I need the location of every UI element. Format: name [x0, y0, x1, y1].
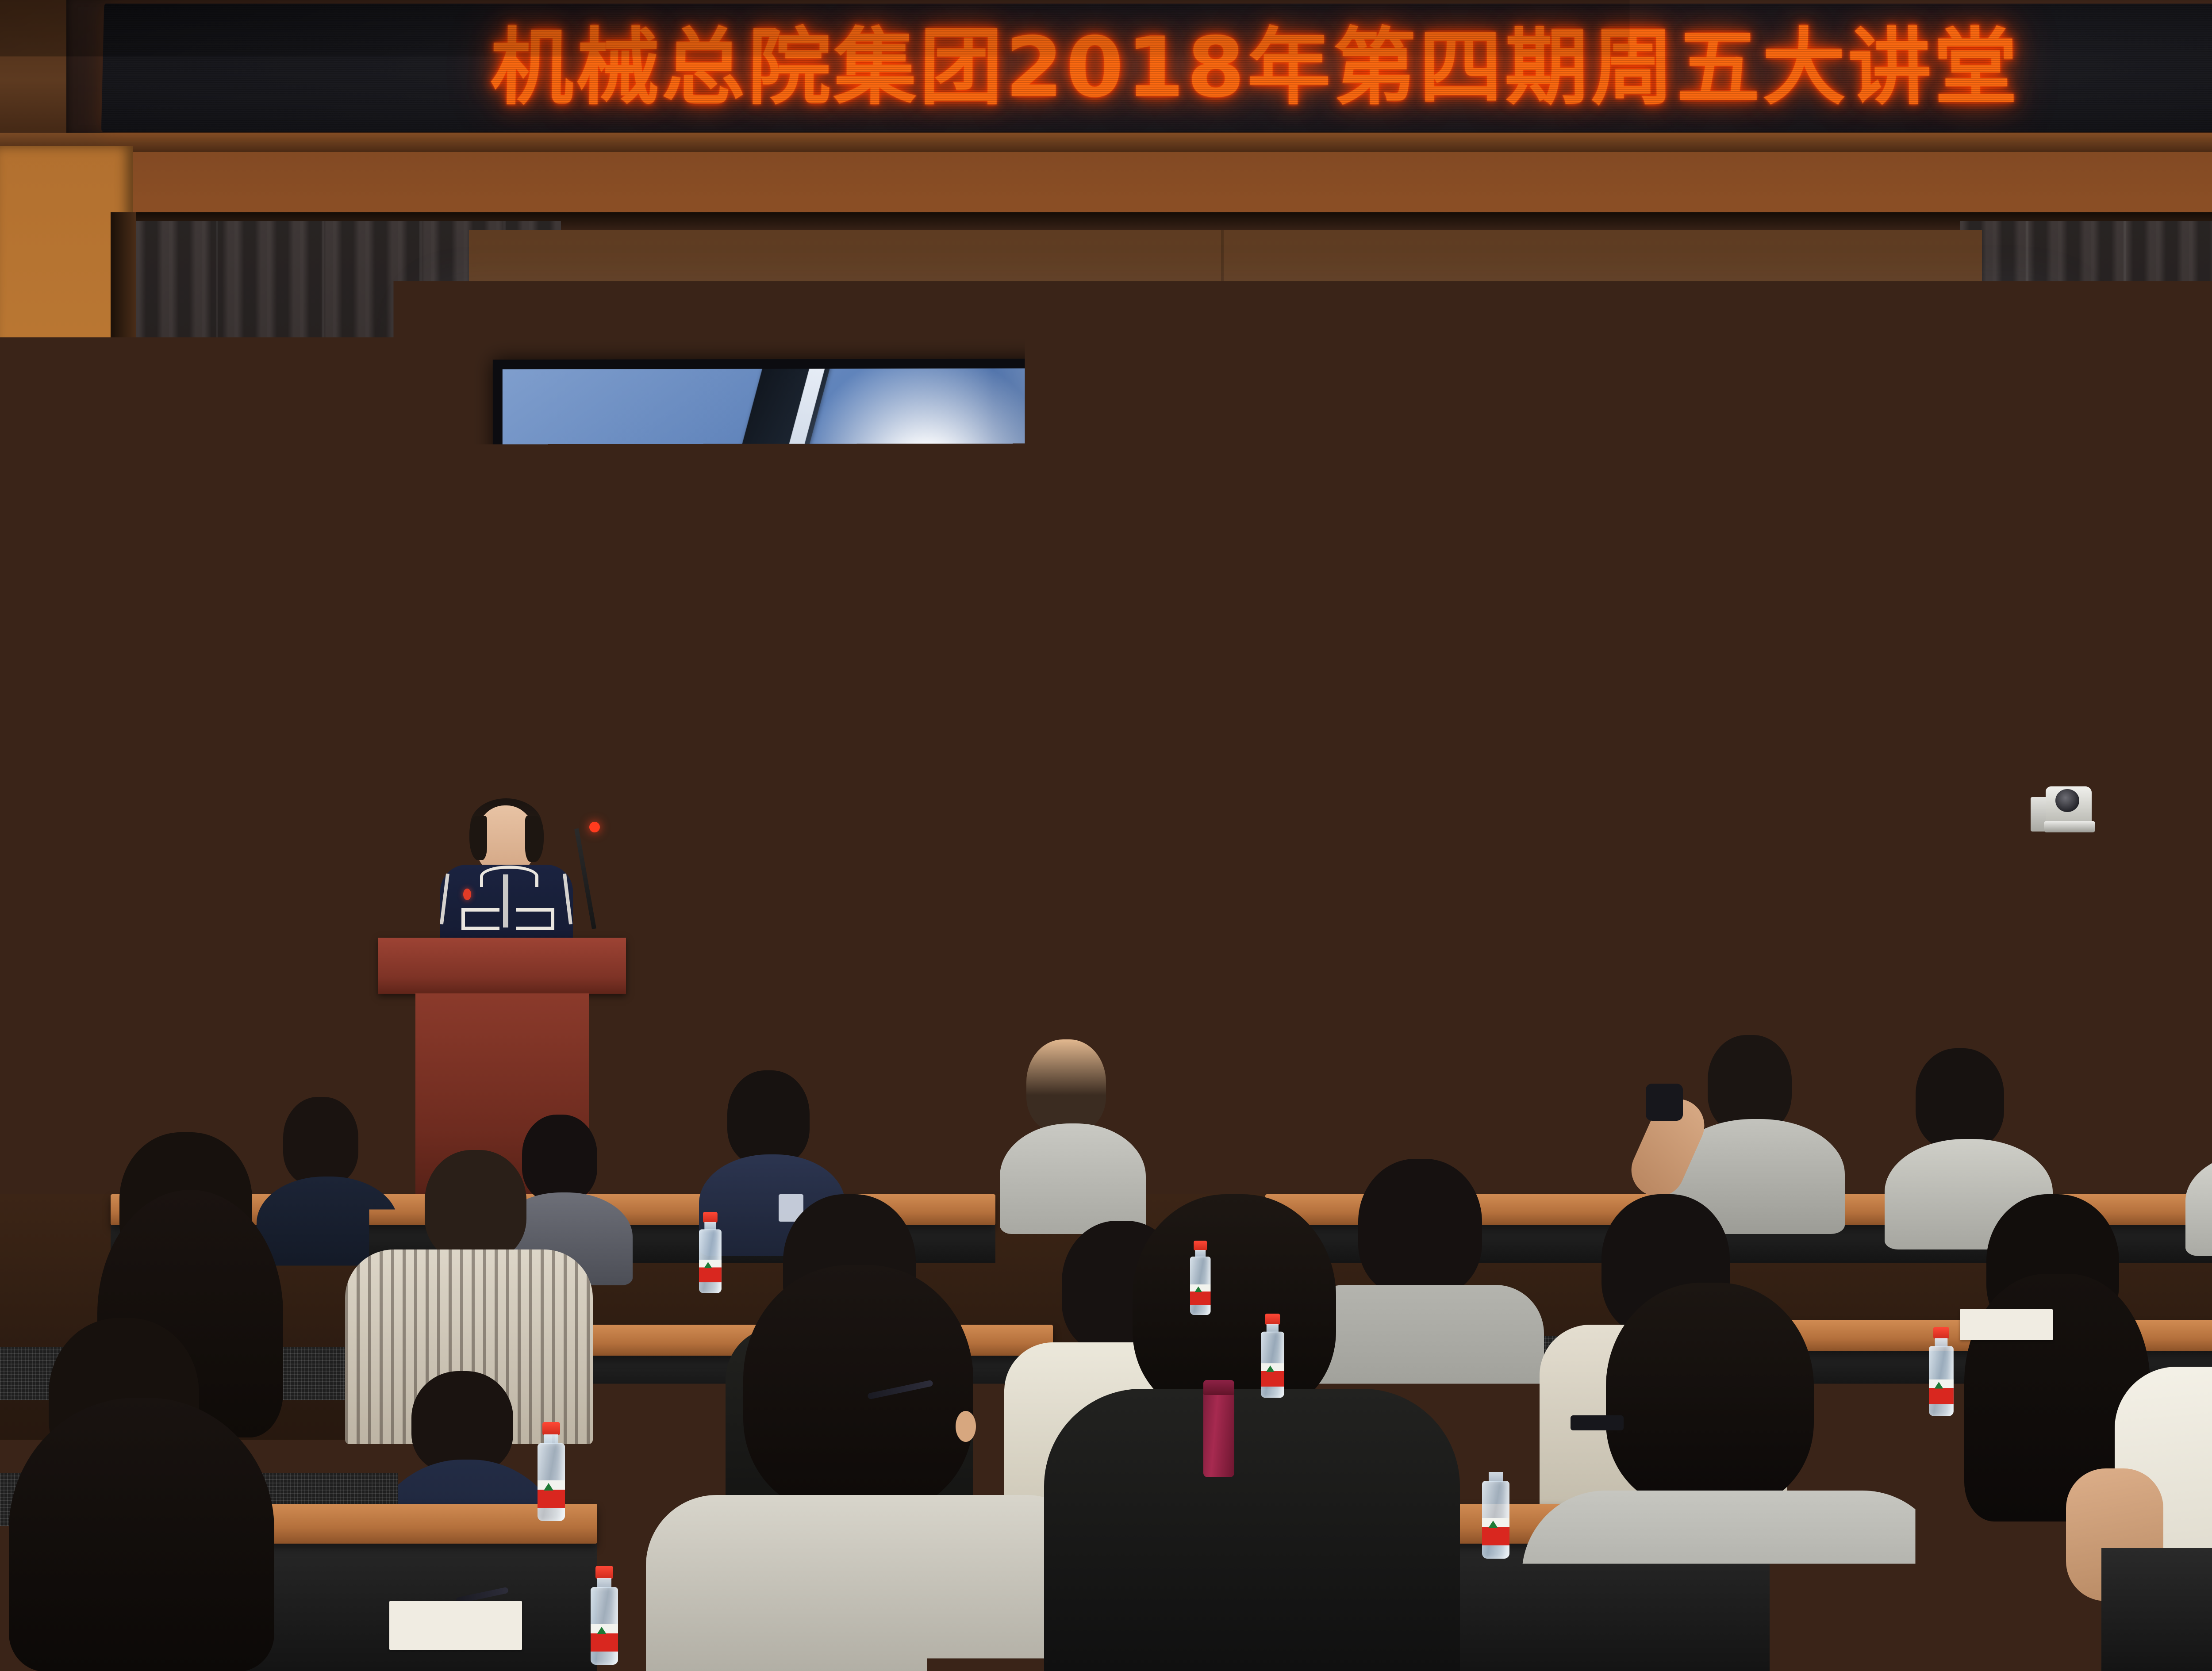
attendee-front-center-right-dark	[1053, 1194, 1451, 1671]
microphone-led-indicator	[589, 822, 600, 832]
notepad-on-desk[interactable]	[389, 1601, 522, 1650]
slide-speaker-name: Professor Brian Andrew Shaw	[1120, 663, 1537, 707]
slide-topic-chinese: 欧洲前沿制造技术简介	[1120, 787, 1563, 850]
soffit-lip	[0, 133, 2212, 152]
slide-title: 机械总院集团青年创新创业行动	[1179, 441, 1863, 511]
slide-subtitle: ——周五大讲堂	[1426, 550, 1743, 615]
ptz-camera-icon	[2031, 778, 2097, 836]
navy-mountain-shape-icon	[1127, 999, 1238, 1145]
attendee-grey-polo-raised-arm	[1681, 1031, 1827, 1221]
attendee-front-left-long-hair	[0, 1318, 292, 1671]
wristwatch-icon	[1646, 1084, 1683, 1121]
slide-topic-english: Introduction of advanced manufacturing t…	[1120, 896, 1479, 964]
notepad-on-desk[interactable]	[1960, 1309, 2053, 1340]
presenter-lapel-badge	[463, 889, 471, 900]
proscenium-left	[111, 212, 136, 1225]
thermos-bottle[interactable]	[1203, 1380, 1234, 1477]
slide-speaker-tag: 主讲人	[874, 667, 961, 701]
attendee-far-right	[2194, 1062, 2212, 1238]
triangle-filled-icon	[1770, 383, 1817, 422]
slide-topic-english-line1: Introduction of advanced	[1120, 896, 1479, 930]
presenter-at-podium	[414, 798, 599, 949]
projection-screen: 机械总院集团青年创新创业行动 ——周五大讲堂 主讲人 Professor Bri…	[503, 367, 1996, 1146]
camera-lens-icon	[2055, 789, 2079, 812]
slide-topic-english-line2: manufacturing technology in Europe	[1120, 930, 1479, 965]
lecture-hall-photo: 机械总院集团2018年第四期周五大讲堂 机械总院集	[0, 0, 2212, 1671]
slide-topic-tag: 报告题目	[874, 814, 961, 851]
attendee-front-center-black-tee	[672, 1265, 1071, 1671]
led-banner-text: 机械总院集团2018年第四期周五大讲堂	[490, 26, 2020, 109]
desk-front-near-right	[2101, 1548, 2212, 1671]
attendee-front-right-grey	[1540, 1283, 1938, 1671]
led-banner: 机械总院集团2018年第四期周五大讲堂	[101, 4, 2212, 132]
eyeglasses-icon	[1571, 1415, 1624, 1430]
